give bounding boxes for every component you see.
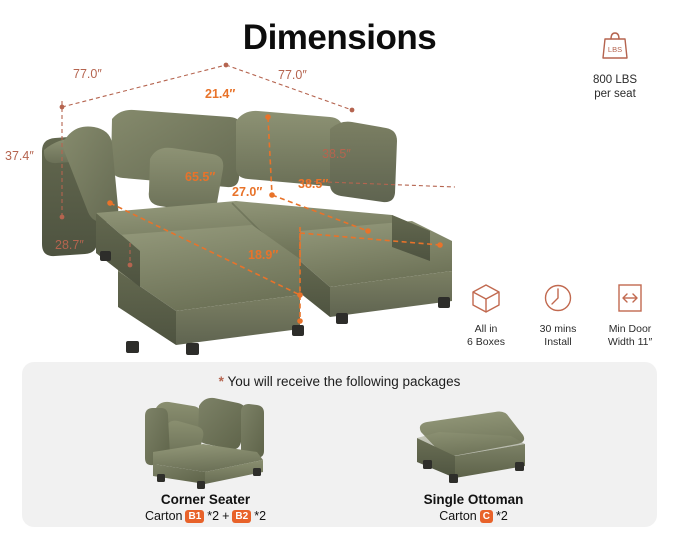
weight-capacity-block: LBS 800 LBS per seat (570, 28, 660, 101)
package-1-carton: Carton C *2 (359, 509, 589, 523)
carton-qty-b1: *2 (207, 509, 219, 523)
dimension-label-ottoman-depth: 38.5″ (298, 177, 328, 191)
package-0-name: Corner Seater (91, 492, 321, 507)
package-0-carton-prefix: Carton (145, 509, 183, 523)
weight-line-2: per seat (570, 87, 660, 101)
feature-icons-row: All in 6 Boxes 30 mins Install Min D (452, 282, 664, 349)
weight-line-1: 800 LBS (570, 73, 660, 87)
dimension-label-width-right: 77.0″ (278, 68, 307, 82)
packages-panel-title-text: You will receive the following packages (227, 374, 460, 389)
package-1-name: Single Ottoman (359, 492, 589, 507)
dimension-label-chaise-width: 38.5″ (322, 147, 351, 161)
box-icon (469, 282, 503, 314)
dimension-label-seat-width: 65.5″ (185, 170, 215, 184)
package-item-single-ottoman: Single Ottoman Carton C *2 (359, 394, 589, 522)
feature-1-line-2: Install (524, 336, 592, 349)
dimension-label-seat-height: 18.9″ (248, 248, 278, 262)
feature-all-in-boxes: All in 6 Boxes (452, 282, 520, 349)
feature-2-line-2: Width 11″ (596, 336, 664, 349)
carton-badge-b2: B2 (232, 510, 251, 523)
carton-qty-b2: *2 (254, 509, 266, 523)
carton-badge-b1: B1 (185, 510, 204, 523)
dimension-label-depth-base: 28.7″ (55, 238, 84, 252)
feature-0-line-2: 6 Boxes (452, 336, 520, 349)
carton-qty-c: *2 (496, 509, 508, 523)
package-1-carton-prefix: Carton (439, 509, 477, 523)
corner-seater-illustration (131, 394, 281, 490)
packages-list: Corner Seater Carton B1 *2 + B2 *2 (22, 394, 657, 522)
packages-panel-title: * You will receive the following package… (22, 374, 657, 389)
weight-bag-icon: LBS (598, 28, 632, 62)
feature-2-line-1: Min Door (596, 323, 664, 336)
packages-panel: * You will receive the following package… (22, 362, 657, 527)
clock-icon (541, 282, 575, 314)
dimension-label-seat-depth: 27.0″ (232, 185, 262, 199)
feature-0-line-1: All in (452, 323, 520, 336)
carton-plus: + (222, 509, 229, 523)
dimensions-infographic: Dimensions (0, 0, 679, 543)
carton-badge-c: C (480, 510, 493, 523)
feature-install-time: 30 mins Install (524, 282, 592, 349)
package-0-carton: Carton B1 *2 + B2 *2 (91, 509, 321, 523)
feature-min-door-width: Min Door Width 11″ (596, 282, 664, 349)
dimension-label-width-left: 77.0″ (73, 67, 102, 81)
door-width-icon (613, 282, 647, 314)
dimension-label-back-height: 21.4″ (205, 87, 235, 101)
svg-text:LBS: LBS (608, 45, 622, 54)
package-item-corner-seater: Corner Seater Carton B1 *2 + B2 *2 (91, 394, 321, 522)
feature-1-line-1: 30 mins (524, 323, 592, 336)
single-ottoman-art (359, 394, 589, 490)
single-ottoman-illustration (399, 394, 549, 490)
dimension-label-height-total: 37.4″ (5, 149, 34, 163)
asterisk-marker: * (219, 374, 224, 389)
corner-seater-art (91, 394, 321, 490)
